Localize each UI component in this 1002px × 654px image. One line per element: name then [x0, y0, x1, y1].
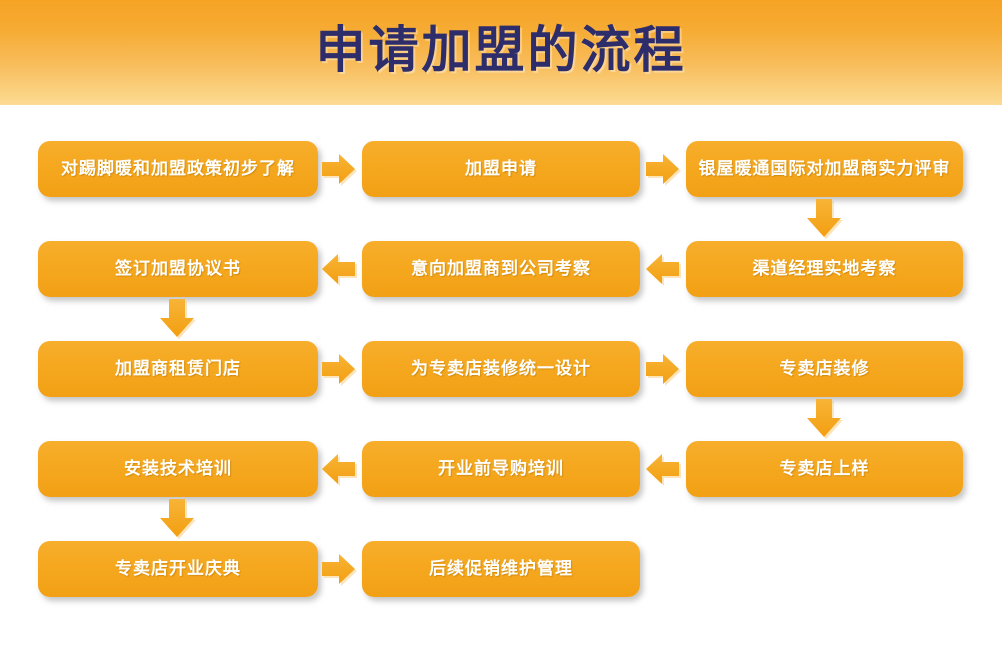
flow-diagram: 对踢脚暖和加盟政策初步了解 加盟申请 银屋暖通国际对加盟商实力评审 [0, 105, 1002, 654]
flow-node-r4c1[interactable]: 安装技术培训 [38, 441, 318, 497]
flow-node-r3c3[interactable]: 专卖店装修 [686, 341, 963, 397]
flow-node-label: 开业前导购培训 [438, 459, 564, 479]
arrow-right-icon [322, 553, 356, 585]
flow-node-label: 专卖店上样 [780, 459, 870, 479]
flow-node-label: 加盟商租赁门店 [115, 359, 241, 379]
page-header: 申请加盟的流程 [0, 0, 1002, 105]
arrow-down-icon [807, 199, 843, 239]
flow-node-label: 安装技术培训 [124, 459, 232, 479]
flow-node-label: 加盟申请 [465, 159, 537, 179]
flow-node-r4c3[interactable]: 专卖店上样 [686, 441, 963, 497]
arrow-right-icon [322, 153, 356, 185]
arrow-left-icon [322, 253, 356, 285]
flow-node-label: 银屋暖通国际对加盟商实力评审 [699, 159, 951, 179]
flow-node-r1c1[interactable]: 对踢脚暖和加盟政策初步了解 [38, 141, 318, 197]
flow-node-r4c2[interactable]: 开业前导购培训 [362, 441, 640, 497]
flowchart-page: 申请加盟的流程 对踢脚暖和加盟政策初步了解 加盟申请 银屋暖通国际对加盟商实力评… [0, 0, 1002, 654]
flow-node-label: 对踢脚暖和加盟政策初步了解 [61, 159, 295, 179]
flow-node-r2c2[interactable]: 意向加盟商到公司考察 [362, 241, 640, 297]
flow-node-label: 后续促销维护管理 [429, 559, 573, 579]
flow-node-r5c1[interactable]: 专卖店开业庆典 [38, 541, 318, 597]
arrow-down-icon [160, 299, 196, 339]
flow-node-r2c1[interactable]: 签订加盟协议书 [38, 241, 318, 297]
flow-node-label: 意向加盟商到公司考察 [411, 259, 591, 279]
flow-node-r1c3[interactable]: 银屋暖通国际对加盟商实力评审 [686, 141, 963, 197]
arrow-down-icon [160, 499, 196, 539]
arrow-left-icon [646, 453, 680, 485]
flow-node-label: 专卖店装修 [780, 359, 870, 379]
flow-node-r5c2[interactable]: 后续促销维护管理 [362, 541, 640, 597]
arrow-right-icon [646, 153, 680, 185]
arrow-left-icon [322, 453, 356, 485]
arrow-right-icon [646, 353, 680, 385]
flow-node-label: 为专卖店装修统一设计 [411, 359, 591, 379]
arrow-left-icon [646, 253, 680, 285]
arrow-down-icon [807, 399, 843, 439]
flow-node-label: 渠道经理实地考察 [753, 259, 897, 279]
flow-node-r3c2[interactable]: 为专卖店装修统一设计 [362, 341, 640, 397]
page-title: 申请加盟的流程 [0, 18, 1002, 82]
flow-node-r2c3[interactable]: 渠道经理实地考察 [686, 241, 963, 297]
flow-node-r3c1[interactable]: 加盟商租赁门店 [38, 341, 318, 397]
flow-node-label: 专卖店开业庆典 [115, 559, 241, 579]
flow-node-r1c2[interactable]: 加盟申请 [362, 141, 640, 197]
arrow-right-icon [322, 353, 356, 385]
flow-node-label: 签订加盟协议书 [115, 259, 241, 279]
